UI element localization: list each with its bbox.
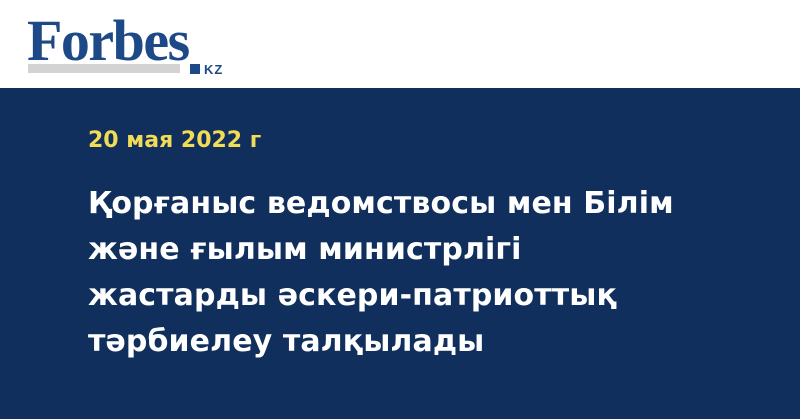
site-header: Forbes KZ — [0, 0, 800, 88]
article-body-panel: 20 мая 2022 г Қорғаныс ведомствосы мен Б… — [0, 88, 800, 419]
forbes-wordmark: Forbes — [27, 12, 189, 70]
publication-date: 20 мая 2022 г — [88, 128, 261, 154]
article-headline: Қорғаныс ведомствосы мен Білім және ғылы… — [88, 181, 728, 365]
forbes-kz-logo[interactable]: Forbes KZ — [27, 12, 247, 80]
headline-line: Қорғаныс ведомствосы мен Білім — [88, 181, 728, 227]
headline-line: жастарды әскери-патриоттық — [88, 273, 728, 319]
logo-rule-bar — [28, 64, 180, 73]
logo-square-icon — [190, 64, 200, 74]
article-share-card: Forbes KZ 20 мая 2022 г Қорғаныс ведомст… — [0, 0, 800, 419]
headline-line: тәрбиелеу талқылады — [88, 319, 728, 365]
headline-line: және ғылым министрлігі — [88, 227, 728, 273]
logo-kz-suffix: KZ — [204, 63, 223, 76]
